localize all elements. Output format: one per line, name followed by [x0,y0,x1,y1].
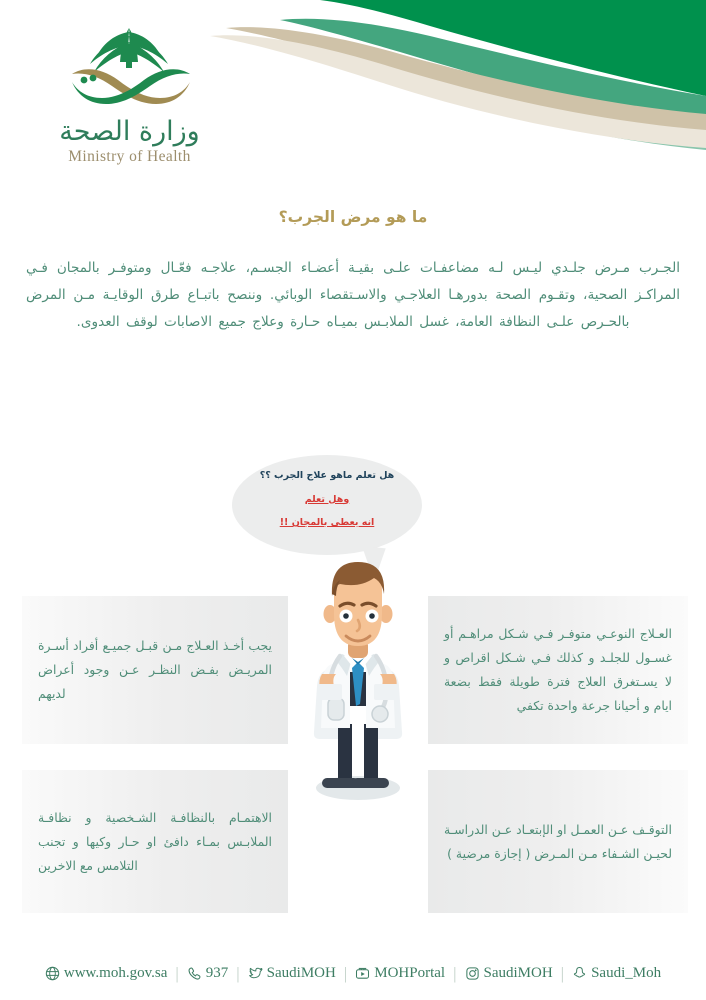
bubble-question: هل تعلم ماهو علاج الجرب ؟؟ [232,471,422,481]
info-box-bottom-left: الاهتمـام بالنظافـة الشـخصية و نظافـة ال… [22,770,288,913]
intro-paragraph: الجـرب مـرض جلـدي ليـس لـه مضاعفـات علـى… [26,255,680,336]
moh-logo: وزارة الصحة Ministry of Health [42,22,217,167]
footer-snapchat[interactable]: Saudi_Moh [564,965,669,982]
footer-twitter[interactable]: SaudiMOH [240,965,344,982]
doctor-illustration [288,552,428,852]
footer-website-label: www.moh.gov.sa [64,965,167,982]
logo-name-en: Ministry of Health [42,148,217,166]
globe-icon [45,966,60,981]
bubble-answer: انه يعطى بالمجان !! [232,518,422,528]
footer-youtube-label: MOHPortal [374,965,445,982]
footer-phone[interactable]: 937 [179,965,237,982]
phone-icon [187,966,202,981]
speech-bubble: هل تعلم ماهو علاج الجرب ؟؟ وهل تعلم انه … [232,455,422,555]
footer-twitter-label: SaudiMOH [267,965,336,982]
footer-contact-bar: www.moh.gov.sa | 937 | SaudiMOH | MOHPor… [0,965,706,982]
twitter-icon [248,966,263,981]
footer-instagram-label: SaudiMOH [484,965,553,982]
bubble-prompt: وهل تعلم [232,495,422,505]
moh-palm-swords-logo-icon [42,22,217,122]
snapchat-icon [572,966,587,981]
info-box-bottom-right: التوقـف عـن العمـل او الإبتعـاد عـن الدر… [428,770,688,913]
info-box-text: التوقـف عـن العمـل او الإبتعـاد عـن الدر… [444,818,672,866]
doctor-icon [288,552,428,852]
footer-youtube[interactable]: MOHPortal [347,965,453,982]
footer-instagram[interactable]: SaudiMOH [457,965,561,982]
logo-name-ar: وزارة الصحة [42,118,217,146]
info-box-top-left: يجب أخـذ العـلاج مـن قبـل جميـع أفراد أس… [22,596,288,744]
footer-website[interactable]: www.moh.gov.sa [37,965,175,982]
info-box-text: الاهتمـام بالنظافـة الشـخصية و نظافـة ال… [38,806,272,878]
youtube-icon [355,966,370,981]
info-box-text: العـلاج النوعـي متوفـر فـي شـكل مراهـم أ… [444,622,672,718]
instagram-icon [465,966,480,981]
footer-snapchat-label: Saudi_Moh [591,965,661,982]
info-box-top-right: العـلاج النوعـي متوفـر فـي شـكل مراهـم أ… [428,596,688,744]
page-title: ما هو مرض الجرب؟ [0,208,706,226]
footer-phone-label: 937 [206,965,229,982]
info-box-text: يجب أخـذ العـلاج مـن قبـل جميـع أفراد أس… [38,634,272,706]
